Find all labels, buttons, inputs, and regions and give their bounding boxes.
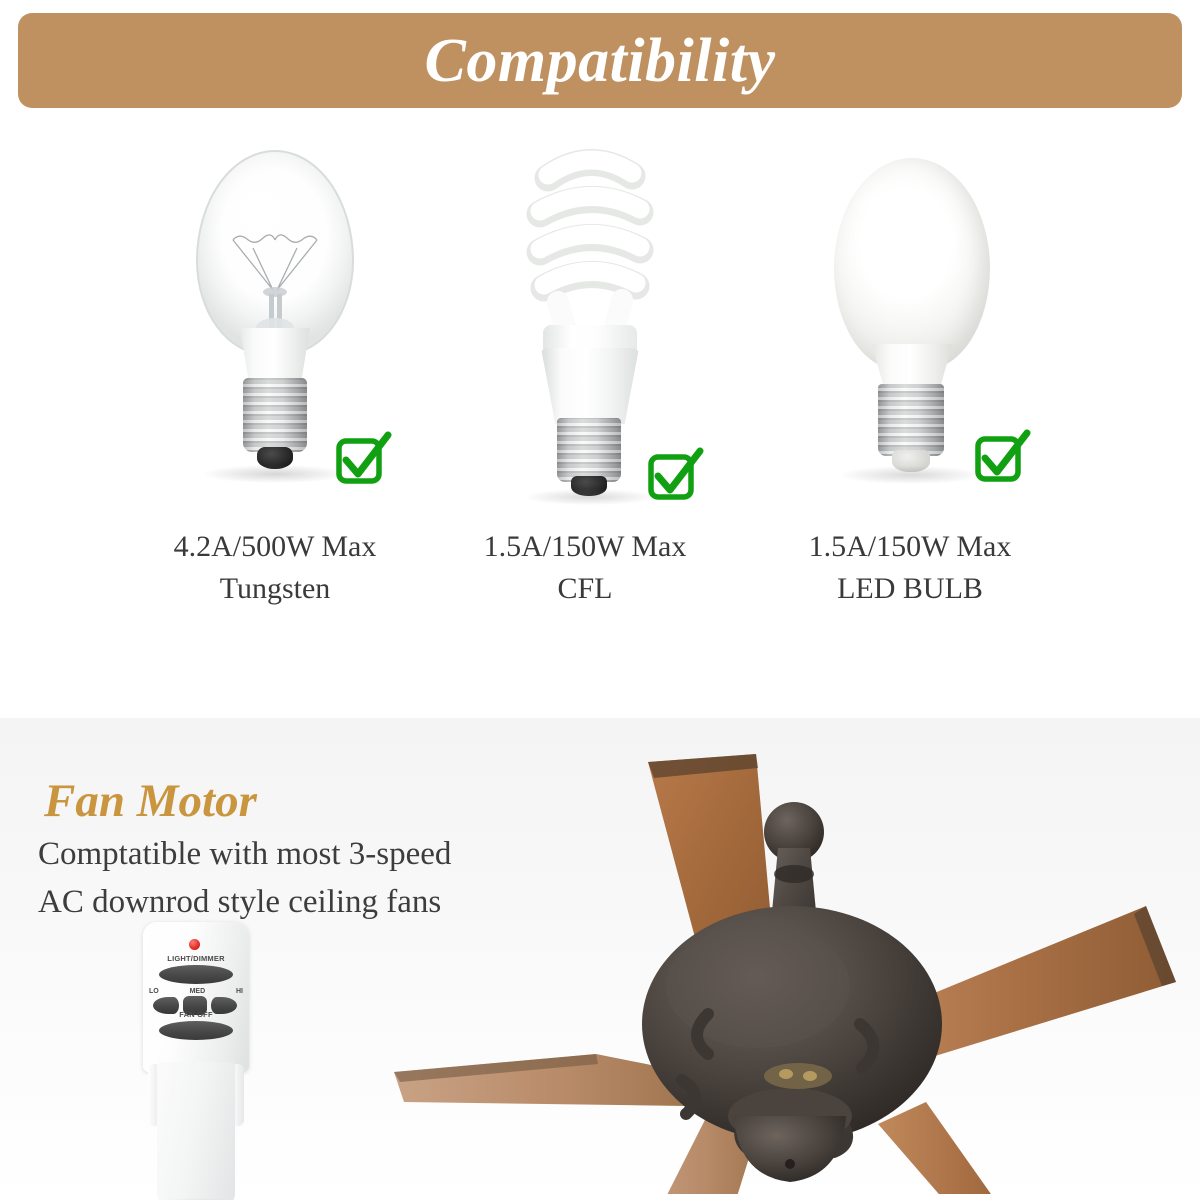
bulb-glass [834, 158, 990, 370]
remote-fan-off-button[interactable] [159, 1021, 233, 1040]
remote-speed-lo-label: LO [149, 988, 159, 995]
page-title: Compatibility [425, 30, 776, 92]
fan-motor-section: Fan Motor Comptatible with most 3-speed … [0, 718, 1200, 1200]
header-banner: Compatibility [18, 13, 1182, 108]
remote-body-lower [157, 1062, 235, 1200]
bulb-shadow [840, 466, 982, 484]
bulb-rating: 1.5A/150W Max [720, 526, 1100, 568]
bulb-shadow [203, 465, 347, 483]
green-check-icon [645, 446, 705, 506]
bulb-card-led: 1.5A/150W Max LED BULB [720, 128, 1100, 508]
bulb-screw-base [243, 378, 307, 452]
fan-motor-detail [764, 1063, 832, 1089]
remote-speed-labels: LO MED HI [149, 988, 243, 995]
red-led-indicator-icon [189, 939, 200, 950]
remote-speed-hi-label: HI [236, 988, 243, 995]
bulb-rating: 1.5A/150W Max [395, 526, 775, 568]
bulb-card-cfl: 1.5A/150W Max CFL [395, 128, 775, 508]
fan-motor-description-line2: AC downrod style ceiling fans [38, 884, 441, 921]
compatibility-section: 4.2A/500W Max Tungsten [0, 108, 1200, 718]
bulb-caption-cfl: 1.5A/150W Max CFL [395, 526, 775, 610]
fan-hub [728, 1088, 852, 1182]
remote-control-image: LIGHT/DIMMER LO MED HI FAN OFF [135, 922, 257, 1200]
bulb-type: CFL [395, 568, 775, 610]
bulb-stage [720, 128, 1100, 508]
bulb-row: 4.2A/500W Max Tungsten [0, 128, 1200, 508]
remote-fan-off-label: FAN OFF [143, 1010, 249, 1019]
green-check-icon [972, 428, 1032, 488]
remote-speed-med-label: MED [190, 988, 206, 995]
bulb-filament [225, 228, 325, 338]
remote-light-dimmer-label: LIGHT/DIMMER [143, 954, 249, 963]
ceiling-fan-illustration-icon [386, 724, 1186, 1194]
bulb-neck [237, 328, 313, 384]
cfl-ballast-body [539, 348, 641, 424]
bulb-shadow [525, 489, 655, 505]
green-check-icon [333, 430, 393, 490]
infographic-page: Compatibility [0, 0, 1200, 1200]
remote-light-dimmer-button[interactable] [159, 965, 233, 984]
bulb-screw-base [878, 384, 944, 456]
bulb-type: LED BULB [720, 568, 1100, 610]
bulb-screw-base [557, 418, 621, 482]
bulb-caption-led: 1.5A/150W Max LED BULB [720, 526, 1100, 610]
bulb-stage [395, 128, 775, 508]
fan-motor-title: Fan Motor [44, 774, 257, 828]
